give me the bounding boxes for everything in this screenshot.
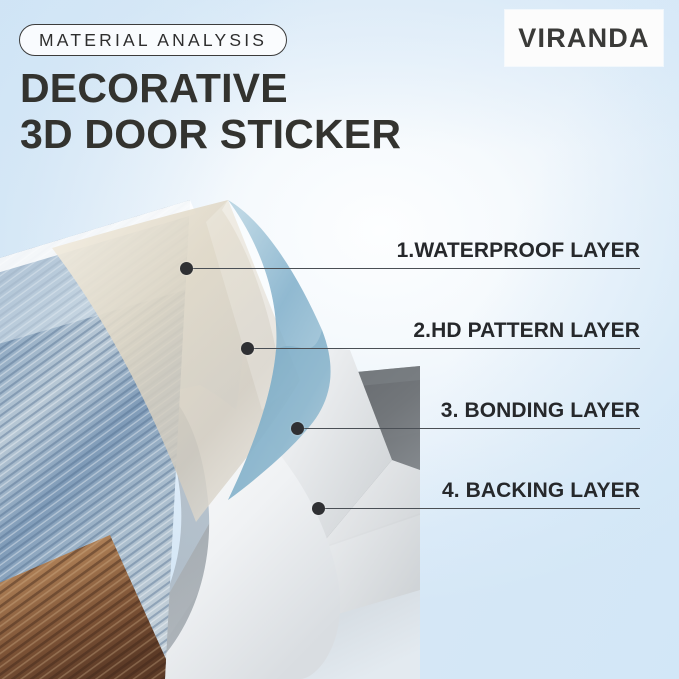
callout-dot-bonding — [291, 422, 304, 435]
leader-line-backing — [318, 508, 640, 509]
leader-line-waterproof — [186, 268, 640, 269]
product-infographic-poster: MATERIAL ANALYSIS DECORATIVE 3D DOOR STI… — [0, 0, 679, 679]
callout-dot-backing — [312, 502, 325, 515]
callout-label-bonding: 3. BONDING LAYER — [441, 399, 640, 423]
callout-dot-hd-pattern — [241, 342, 254, 355]
callout-label-backing: 4. BACKING LAYER — [442, 479, 640, 503]
sticker-layers-illustration — [0, 170, 420, 679]
brand-name: VIRANDA — [518, 23, 649, 54]
callout-dot-waterproof — [180, 262, 193, 275]
badge-label: MATERIAL ANALYSIS — [39, 30, 267, 51]
brand-logo: VIRANDA — [505, 10, 663, 66]
leader-line-hd-pattern — [247, 348, 640, 349]
leader-line-bonding — [297, 428, 640, 429]
headline-line-1: DECORATIVE — [20, 65, 401, 111]
material-analysis-badge: MATERIAL ANALYSIS — [19, 24, 287, 56]
callout-label-waterproof: 1.WATERPROOF LAYER — [397, 239, 640, 263]
page-title: DECORATIVE 3D DOOR STICKER — [20, 65, 401, 157]
callout-label-hd-pattern: 2.HD PATTERN LAYER — [413, 319, 640, 343]
headline-line-2: 3D DOOR STICKER — [20, 111, 401, 157]
